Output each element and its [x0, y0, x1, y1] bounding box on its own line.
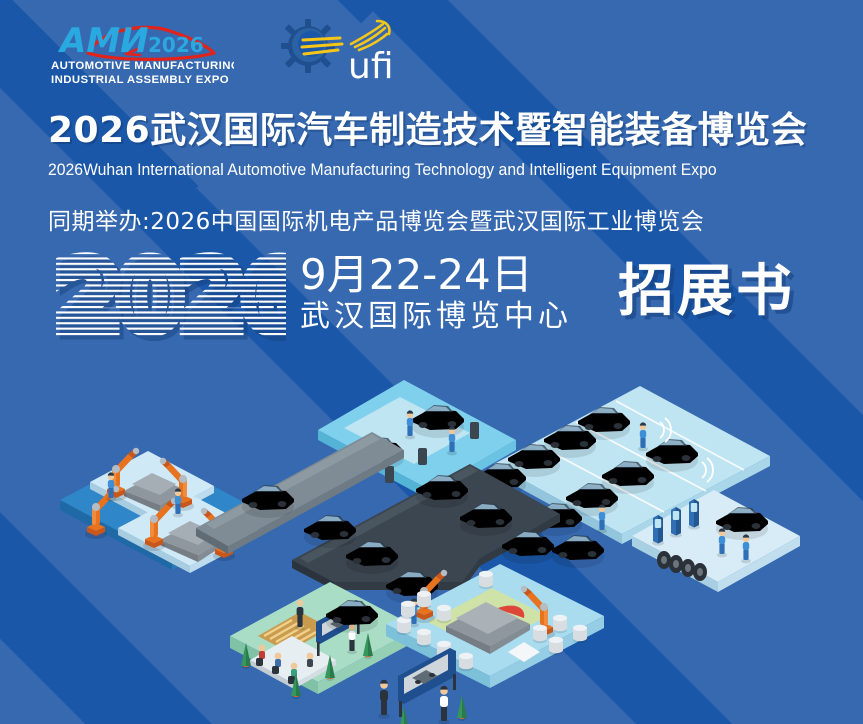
event-venue: 武汉国际博览中心 — [300, 299, 572, 335]
seated-person — [275, 653, 282, 667]
isometric-factory-illustration: .plat-face { stroke:none; } .red .cbody … — [0, 360, 863, 724]
paint-barrel — [553, 615, 567, 633]
car — [552, 535, 604, 568]
hero-year-2026: 2026 2026 — [56, 252, 286, 348]
hero-date-row: 2026 2026 9月22-24日 武汉国际博览中心 招展书 — [56, 252, 846, 352]
paint-barrel — [479, 571, 493, 589]
car — [304, 515, 356, 548]
title-block: 2026武汉国际汽车制造技术暨智能装备博览会 2026Wuhan Interna… — [48, 108, 838, 236]
ami-tagline-line2: INDUSTRIAL ASSEMBLY EXPO — [51, 74, 229, 86]
ami-year-badge: 2026 — [148, 33, 204, 57]
main-title-english: 2026Wuhan International Automotive Manuf… — [48, 161, 802, 180]
paint-barrel — [397, 617, 411, 635]
poster-root: AMИ 2026 AUTOMOTIVE MANUFACTURING & INDU… — [0, 0, 863, 724]
ufi-logo: ufi — [278, 16, 408, 84]
hero-date-text: 9月22-24日 武汉国际博览中心 — [300, 252, 572, 335]
paint-barrel — [437, 605, 451, 623]
ev-charger — [652, 515, 664, 546]
main-title-chinese: 2026武汉国际汽车制造技术暨智能装备博览会 — [48, 108, 838, 155]
prospectus-badge: 招展书 — [618, 252, 795, 320]
concurrent-events-line: 同期举办:2026中国国际机电产品博览会暨武汉国际工业博览会 — [48, 202, 838, 236]
ev-charger — [670, 507, 682, 538]
visitor-figure — [438, 686, 450, 724]
front-display-banner — [398, 648, 456, 717]
paint-barrel — [401, 601, 415, 619]
ami-wordmark: AMИ — [57, 21, 149, 61]
potted-plant — [457, 695, 467, 721]
paint-barrel — [533, 625, 547, 643]
seated-person — [259, 645, 266, 659]
showroom-platform — [230, 582, 418, 699]
header-logo-row: AMИ 2026 AUTOMOTIVE MANUFACTURING & INDU… — [0, 0, 863, 100]
paint-barrel — [459, 653, 473, 671]
ami-tagline-line1: AUTOMOTIVE MANUFACTURING & — [51, 60, 234, 72]
visitor-figure — [378, 680, 390, 719]
ev-charger — [688, 499, 700, 530]
ami-expo-logo: AMИ 2026 AUTOMOTIVE MANUFACTURING & INDU… — [48, 14, 234, 86]
ufi-wordmark: ufi — [348, 46, 394, 84]
seated-person — [307, 653, 314, 667]
paint-barrel — [417, 629, 431, 647]
paint-barrel — [549, 637, 563, 655]
paint-barrel — [417, 591, 431, 609]
paint-barrel — [573, 625, 587, 643]
event-dates: 9月22-24日 — [300, 254, 572, 297]
